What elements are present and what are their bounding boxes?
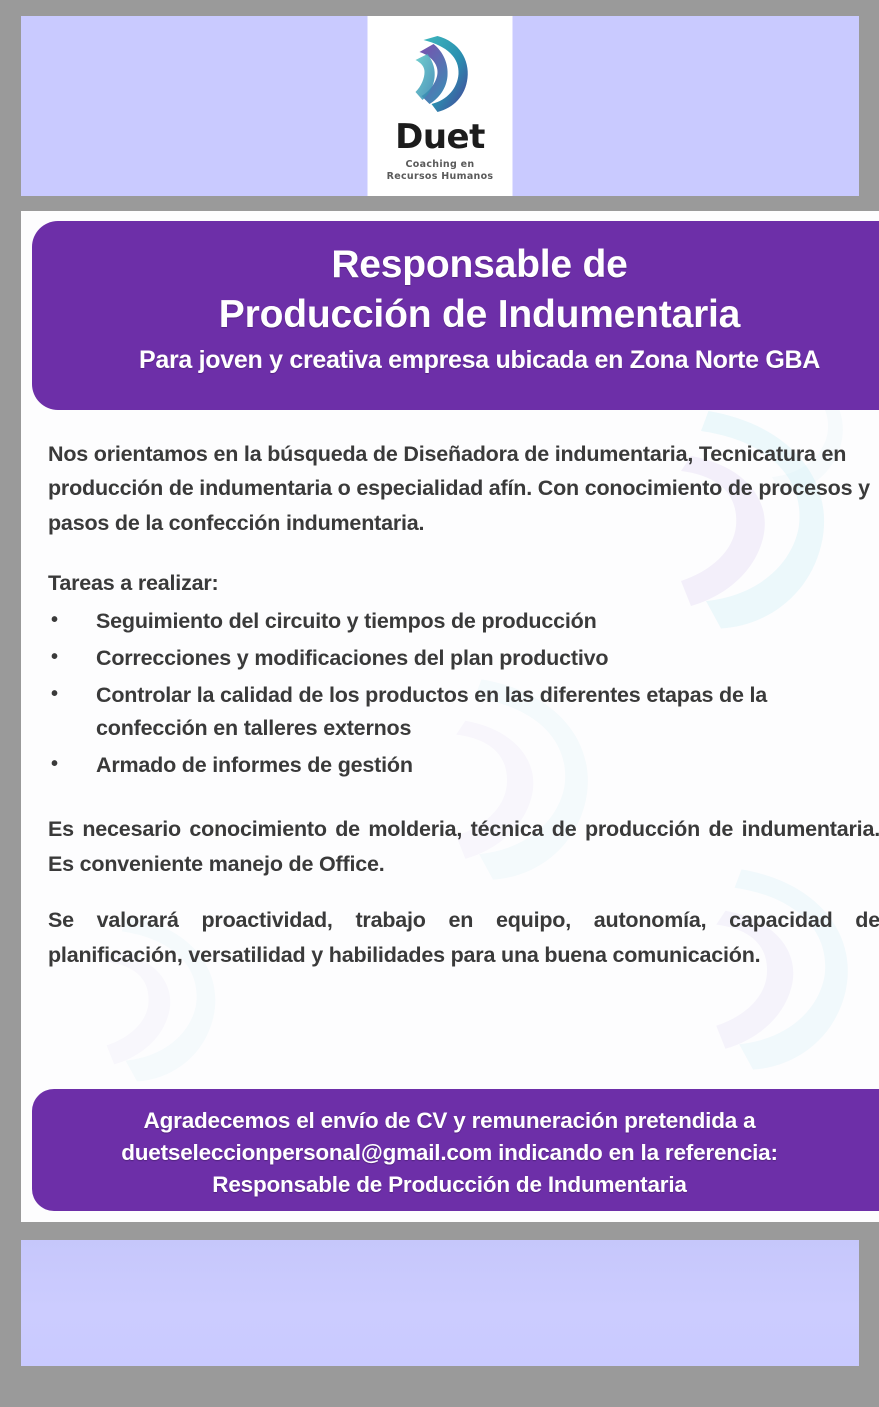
list-item-label: Correcciones y modificaciones del plan p… [96, 646, 608, 670]
flyer-sheet: Responsable de Producción de Indumentari… [21, 211, 879, 1222]
logo-tagline-line2: Recursos Humanos [387, 171, 494, 182]
logo-wordmark: Duet [395, 120, 485, 154]
intro-paragraph: Nos orientamos en la búsqueda de Diseñad… [48, 437, 879, 540]
contact-email-line: duetseleccionpersonal@gmail.com indicand… [32, 1137, 867, 1169]
logo-band: Duet Coaching en Recursos Humanos [21, 16, 859, 196]
duet-logo-card: Duet Coaching en Recursos Humanos [368, 16, 513, 196]
list-item: •Armado de informes de gestión [48, 749, 879, 783]
bullet-icon: • [51, 642, 58, 674]
job-title-banner: Responsable de Producción de Indumentari… [32, 221, 879, 410]
requirements-paragraph: Es necesario conocimiento de molderia, t… [48, 812, 879, 881]
contact-footer-banner: Agradecemos el envío de CV y remuneració… [32, 1089, 879, 1211]
job-subtitle: Para joven y creativa empresa ubicada en… [62, 346, 879, 375]
bullet-icon: • [51, 679, 58, 711]
page-title-line2: Producción de Indumentaria [62, 293, 879, 337]
page-title-line1: Responsable de [62, 243, 879, 287]
job-posting-flyer: Duet Coaching en Recursos Humanos [0, 0, 879, 1407]
contact-line-1: Agradecemos el envío de CV y remuneració… [32, 1105, 867, 1137]
list-item-label: Controlar la calidad de los productos en… [96, 683, 767, 741]
logo-tagline-line1: Coaching en [406, 159, 475, 170]
valued-skills-paragraph: Se valorará proactividad, trabajo en equ… [48, 903, 879, 972]
list-item-label: Seguimiento del circuito y tiempos de pr… [96, 609, 597, 633]
list-item-label: Armado de informes de gestión [96, 753, 413, 777]
tasks-heading: Tareas a realizar: [48, 566, 879, 600]
contact-reference-line: Responsable de Producción de Indumentari… [32, 1169, 867, 1201]
list-item: •Correcciones y modificaciones del plan … [48, 642, 879, 676]
bottom-lavender-panel [21, 1240, 859, 1366]
duet-swirl-d-logo-icon [403, 30, 477, 116]
job-description-body: Nos orientamos en la búsqueda de Diseñad… [48, 437, 879, 972]
bullet-icon: • [51, 605, 58, 637]
tasks-list: •Seguimiento del circuito y tiempos de p… [48, 605, 879, 784]
list-item: •Seguimiento del circuito y tiempos de p… [48, 605, 879, 639]
logo-tagline: Coaching en Recursos Humanos [387, 159, 494, 183]
bullet-icon: • [51, 749, 58, 781]
list-item: •Controlar la calidad de los productos e… [48, 679, 879, 747]
